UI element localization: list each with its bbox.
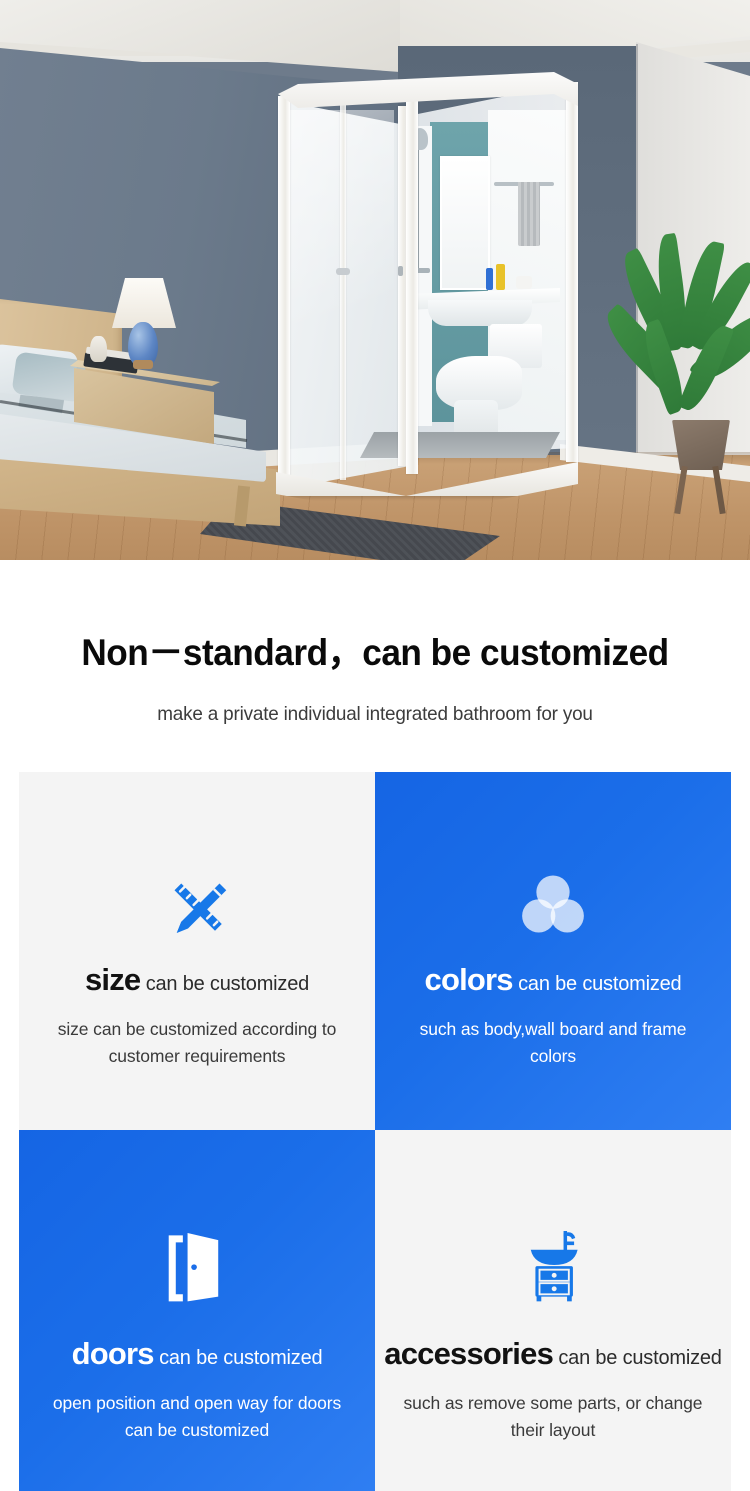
bathroom-mirror bbox=[440, 156, 490, 290]
open-door-icon bbox=[164, 1208, 230, 1304]
decor-vase bbox=[90, 336, 107, 362]
toiletry-bottle bbox=[496, 264, 505, 290]
color-circles-icon bbox=[515, 846, 591, 942]
feature-title-rest: can be customized bbox=[140, 973, 309, 995]
page-subtitle: make a private individual integrated bat… bbox=[11, 671, 739, 726]
feature-title-strong: accessories bbox=[384, 1336, 553, 1371]
feature-title-doors: doors can be customized bbox=[72, 1338, 323, 1369]
feature-title-accessories: accessories can be customized bbox=[384, 1338, 721, 1369]
feature-title-strong: doors bbox=[72, 1336, 154, 1371]
page-title: Non－standard，can be customized bbox=[19, 560, 732, 671]
cabin-frame-post bbox=[406, 94, 418, 474]
feature-card-size[interactable]: size can be customized size can be custo… bbox=[19, 772, 375, 1130]
wash-basin bbox=[428, 300, 532, 326]
feature-title-strong: colors bbox=[425, 962, 513, 997]
feature-description-accessories: such as remove some parts, or change the… bbox=[403, 1390, 703, 1444]
toiletry-bottle bbox=[486, 268, 493, 290]
feature-description-doors: open position and open way for doors can… bbox=[47, 1390, 347, 1444]
feature-title-colors: colors can be customized bbox=[425, 964, 682, 995]
feature-title-rest: can be customized bbox=[553, 1347, 722, 1369]
plant-pot bbox=[672, 420, 730, 470]
cabin-frame-post bbox=[278, 96, 290, 490]
feature-title-rest: can be customized bbox=[154, 1347, 323, 1369]
feature-card-accessories[interactable]: accessories can be customized such as re… bbox=[375, 1130, 731, 1491]
feature-title-strong: size bbox=[85, 962, 140, 997]
vanity-sink-icon bbox=[519, 1208, 587, 1304]
feature-description-size: size can be customized according to cust… bbox=[47, 1016, 347, 1070]
feature-title-rest: can be customized bbox=[513, 973, 682, 995]
sliding-door-handle bbox=[336, 268, 350, 275]
feature-card-doors[interactable]: doors can be customized open position an… bbox=[19, 1130, 375, 1491]
ruler-pencil-icon bbox=[161, 846, 233, 942]
cabin-frame-post bbox=[566, 82, 578, 462]
feature-grid: size can be customized size can be custo… bbox=[19, 772, 731, 1491]
feature-title-size: size can be customized bbox=[85, 964, 309, 995]
sliding-door-handle bbox=[398, 266, 403, 276]
feature-description-colors: such as body,wall board and frame colors bbox=[403, 1016, 703, 1070]
table-lamp-foot bbox=[133, 360, 153, 369]
toilet-paper-roll bbox=[516, 276, 532, 289]
feature-card-colors[interactable]: colors can be customized such as body,wa… bbox=[375, 772, 731, 1130]
towel bbox=[518, 182, 540, 246]
cabin-frame-post bbox=[340, 100, 346, 480]
hero-product-image bbox=[0, 0, 750, 560]
